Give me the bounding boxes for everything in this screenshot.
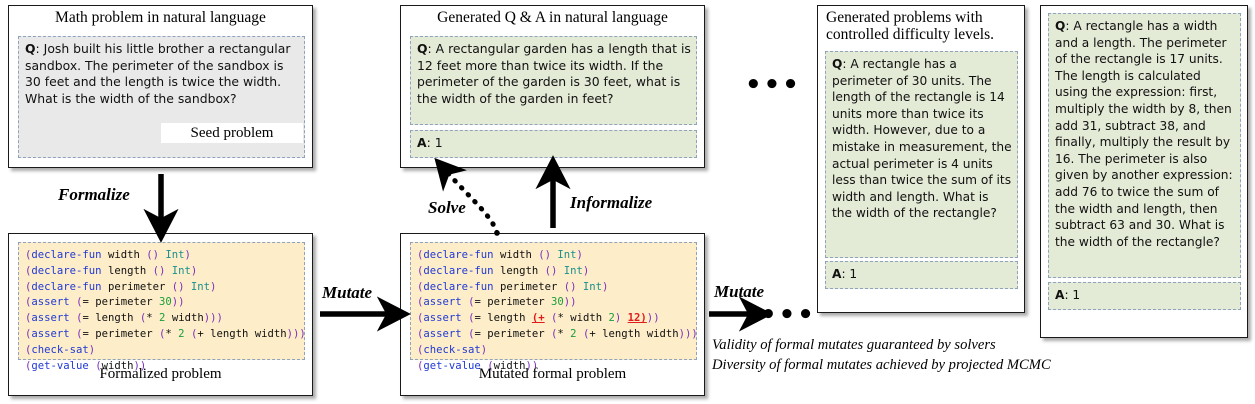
- mutation-token-value: 12): [628, 312, 647, 324]
- q-body: : A rectangle has a perimeter of 30 unit…: [832, 57, 1012, 220]
- formalized-code-box: (declare-fun width () Int) (declare-fun …: [18, 242, 305, 360]
- mutated-code-box: (declare-fun width () Int) (declare-fun …: [410, 242, 697, 360]
- seed-question-text: Q: Josh built his little brother a recta…: [19, 37, 304, 111]
- label-informalize: Informalize: [570, 193, 652, 213]
- q-prefix: Q: [417, 41, 428, 56]
- formalized-code: (declare-fun width () Int) (declare-fun …: [19, 243, 304, 380]
- q-body: : A rectangle has a width and a length. …: [1055, 19, 1233, 249]
- a-body: : 1: [1064, 288, 1080, 302]
- mutation-token-open: (+: [532, 312, 545, 324]
- a-body: : 1: [427, 135, 443, 150]
- generated-answer-box: A: 1: [410, 130, 697, 158]
- label-solve: Solve: [428, 198, 466, 218]
- note-diversity: Diversity of formal mutates achieved by …: [712, 357, 1051, 374]
- label-mutate-1: Mutate: [322, 283, 372, 303]
- panel-controlled-difficulty: Generated problems with controlled diffi…: [817, 5, 1025, 313]
- ellipsis-bottom: •••: [760, 302, 816, 328]
- figure-canvas: Math problem in natural language Q: Josh…: [0, 0, 1255, 404]
- q-body: : Josh built his little brother a rectan…: [25, 41, 290, 106]
- seed-problem-label: Seed problem: [161, 123, 303, 143]
- a-prefix: A: [417, 135, 427, 150]
- q-prefix: Q: [1055, 19, 1065, 33]
- panel-controlled-title: Generated problems with controlled diffi…: [818, 6, 1024, 46]
- generated-question-box: Q: A rectangular garden has a length tha…: [410, 36, 697, 125]
- q-prefix: Q: [832, 57, 842, 71]
- ellipsis-top: •••: [745, 72, 801, 98]
- panel-generated-qa-title: Generated Q & A in natural language: [401, 6, 704, 28]
- label-formalize: Formalize: [58, 185, 130, 205]
- controlled-question-text: Q: A rectangle has a perimeter of 30 uni…: [826, 52, 1017, 226]
- formalized-caption: Formalized problem: [9, 366, 312, 383]
- generated-answer-text: A: 1: [411, 131, 696, 156]
- a-body: : 1: [841, 267, 857, 281]
- note-validity: Validity of formal mutates guaranteed by…: [712, 337, 996, 354]
- panel-seed-problem: Math problem in natural language Q: Josh…: [8, 5, 313, 168]
- panel-mutated-formal-problem: (declare-fun width () Int) (declare-fun …: [400, 233, 705, 396]
- controlled-answer-text: A: 1: [826, 262, 1017, 287]
- generated-question-text: Q: A rectangular garden has a length tha…: [411, 37, 696, 111]
- panel-hard-problem: Q: A rectangle has a width and a length.…: [1040, 5, 1248, 338]
- hard-answer-text: A: 1: [1049, 283, 1240, 308]
- hard-answer-box: A: 1: [1048, 282, 1241, 310]
- mutated-code: (declare-fun width () Int) (declare-fun …: [411, 243, 696, 380]
- panel-formalized-problem: (declare-fun width () Int) (declare-fun …: [8, 233, 313, 396]
- hard-question-text: Q: A rectangle has a width and a length.…: [1049, 14, 1240, 254]
- panel-generated-qa: Generated Q & A in natural language Q: A…: [400, 5, 705, 168]
- mutated-caption: Mutated formal problem: [401, 366, 704, 383]
- q-prefix: Q: [25, 41, 36, 56]
- label-mutate-2: Mutate: [714, 282, 764, 302]
- q-body: : A rectangular garden has a length that…: [417, 41, 691, 106]
- controlled-question-box: Q: A rectangle has a perimeter of 30 uni…: [825, 51, 1018, 258]
- controlled-answer-box: A: 1: [825, 261, 1018, 289]
- hard-question-box: Q: A rectangle has a width and a length.…: [1048, 13, 1241, 278]
- panel-seed-title: Math problem in natural language: [9, 6, 312, 28]
